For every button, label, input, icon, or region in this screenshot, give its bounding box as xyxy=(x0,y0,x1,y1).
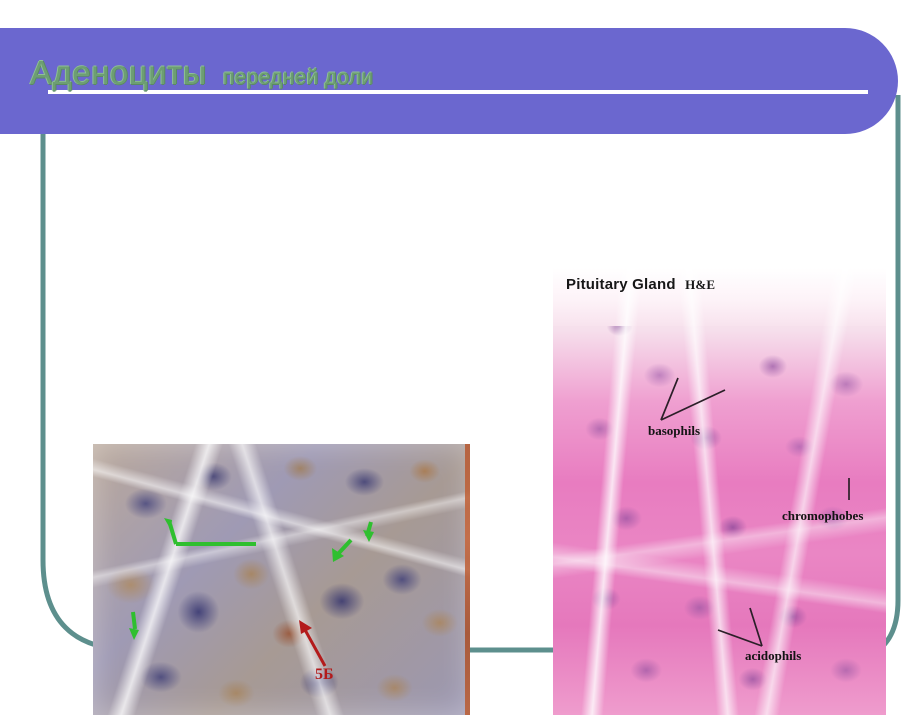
figure-right-texture xyxy=(553,268,886,715)
figure-left-edge-strip xyxy=(465,444,470,715)
presentation-slide: Аденоциты передней доли 5Б xyxy=(0,0,923,715)
figure-immunostained-pituitary: 5Б xyxy=(93,444,470,715)
page-title-subtitle: передней доли xyxy=(223,66,373,90)
figure-right-title: Pituitary Gland H&E xyxy=(566,276,715,293)
page-title: Аденоциты передней доли xyxy=(30,54,373,92)
figure-left-texture xyxy=(93,444,470,715)
figure-left-label-5b: 5Б xyxy=(315,666,334,684)
figure-right-stain-label: H&E xyxy=(685,277,715,292)
figure-right-label-acidophils: acidophils xyxy=(745,648,801,664)
figure-right-title-text: Pituitary Gland xyxy=(566,276,676,293)
figure-right-label-chromophobes: chromophobes xyxy=(782,508,863,524)
figure-right-label-basophils: basophils xyxy=(648,423,700,439)
figure-pituitary-gland-he: Pituitary Gland H&E basophils chromophob… xyxy=(553,268,886,715)
page-title-main: Аденоциты xyxy=(30,54,207,92)
